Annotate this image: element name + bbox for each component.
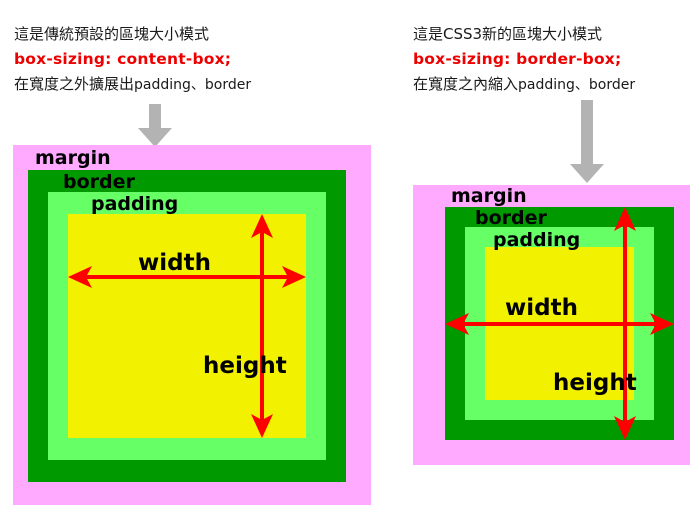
caption-line-1: 這是CSS3新的區塊大小模式 [413,22,700,47]
caption-border-box: 這是CSS3新的區塊大小模式 box-sizing: border-box; 在… [413,22,700,98]
caption-content-box: 這是傳統預設的區塊大小模式 box-sizing: content-box; 在… [14,22,414,98]
box-model-border-box: margin border padding width height [413,185,690,465]
code-text: box-sizing: content-box; [14,50,231,68]
width-label: width [505,297,578,320]
box-model-content-box: margin border padding width height [13,145,371,505]
margin-band-label: margin [451,187,527,206]
margin-band-label: margin [35,149,111,168]
caption-line-3: 在寬度之內縮入padding、border [413,72,700,98]
padding-band-label: padding [91,195,178,214]
height-label: height [203,355,287,378]
border-band-label: border [475,209,547,228]
caption-line-3-head: 在寬度之內縮入 [413,75,518,93]
padding-band-label: padding [493,231,580,250]
panel-border-box: 這是CSS3新的區塊大小模式 box-sizing: border-box; 在… [400,0,700,514]
caption-line-1: 這是傳統預設的區塊大小模式 [14,22,414,47]
border-band-label: border [63,173,135,192]
gray-down-arrow-left [132,104,178,148]
caption-line-code: box-sizing: border-box; [413,47,700,72]
caption-line-3: 在寬度之外擴展出padding、border [14,72,414,98]
content-band [68,214,306,438]
height-label: height [553,372,637,395]
caption-line-3-tail: padding、border [518,77,635,93]
gray-down-arrow-right [564,100,610,184]
caption-line-code: box-sizing: content-box; [14,47,414,72]
code-text: box-sizing: border-box; [413,50,621,68]
width-label: width [138,252,211,275]
panel-content-box: 這是傳統預設的區塊大小模式 box-sizing: content-box; 在… [0,0,400,514]
caption-line-3-head: 在寬度之外擴展出 [14,75,134,93]
caption-line-3-tail: padding、border [134,77,251,93]
